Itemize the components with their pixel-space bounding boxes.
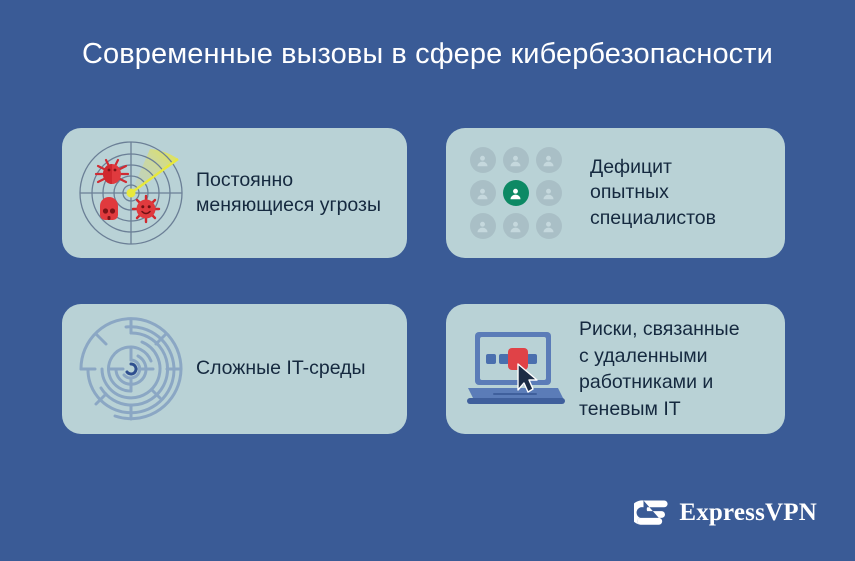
radar-threats-icon [76,139,186,247]
card-text-line: Сложные IT-среды [196,356,366,382]
avatar [536,213,562,239]
avatar [536,147,562,173]
slide-root: Современные вызовы в сфере кибербезопасн… [0,0,855,561]
avatar [536,180,562,206]
card-skills-shortage-text: Дефицит опытных специалистов [590,155,716,232]
avatar [470,180,496,206]
expressvpn-e-mark-icon [634,498,668,528]
card-text-line: Риски, связанные [579,316,740,343]
avatar-grid [470,147,562,239]
laptop-cursor-icon [464,324,569,414]
people-grid-icon [468,146,563,241]
card-text-line: Постоянно [196,168,381,194]
card-text-line: меняющиеся угрозы [196,193,381,219]
avatar-highlighted [503,180,529,206]
avatar [470,147,496,173]
card-ever-changing-threats: Постоянно меняющиеся угрозы [62,128,407,258]
card-text-line: специалистов [590,206,716,232]
expressvpn-logo: ExpressVPN [634,498,817,528]
card-ever-changing-threats-text: Постоянно меняющиеся угрозы [196,168,381,219]
avatar [503,147,529,173]
card-text-line: работниками и [579,369,740,396]
card-text-line: Дефицит [590,155,716,181]
expressvpn-wordmark: ExpressVPN [679,499,817,527]
avatar [503,213,529,239]
card-remote-shadow-it-risks-text: Риски, связанные с удаленными работникам… [579,316,740,422]
avatar [470,213,496,239]
card-complex-it-environments-text: Сложные IT-среды [196,356,366,382]
page-title: Современные вызовы в сфере кибербезопасн… [0,38,855,71]
maze-icon [76,315,186,423]
card-remote-shadow-it-risks: Риски, связанные с удаленными работникам… [446,304,785,434]
card-text-line: теневым IT [579,396,740,423]
card-text-line: с удаленными [579,343,740,370]
card-complex-it-environments: Сложные IT-среды [62,304,407,434]
card-skills-shortage: Дефицит опытных специалистов [446,128,785,258]
card-text-line: опытных [590,180,716,206]
